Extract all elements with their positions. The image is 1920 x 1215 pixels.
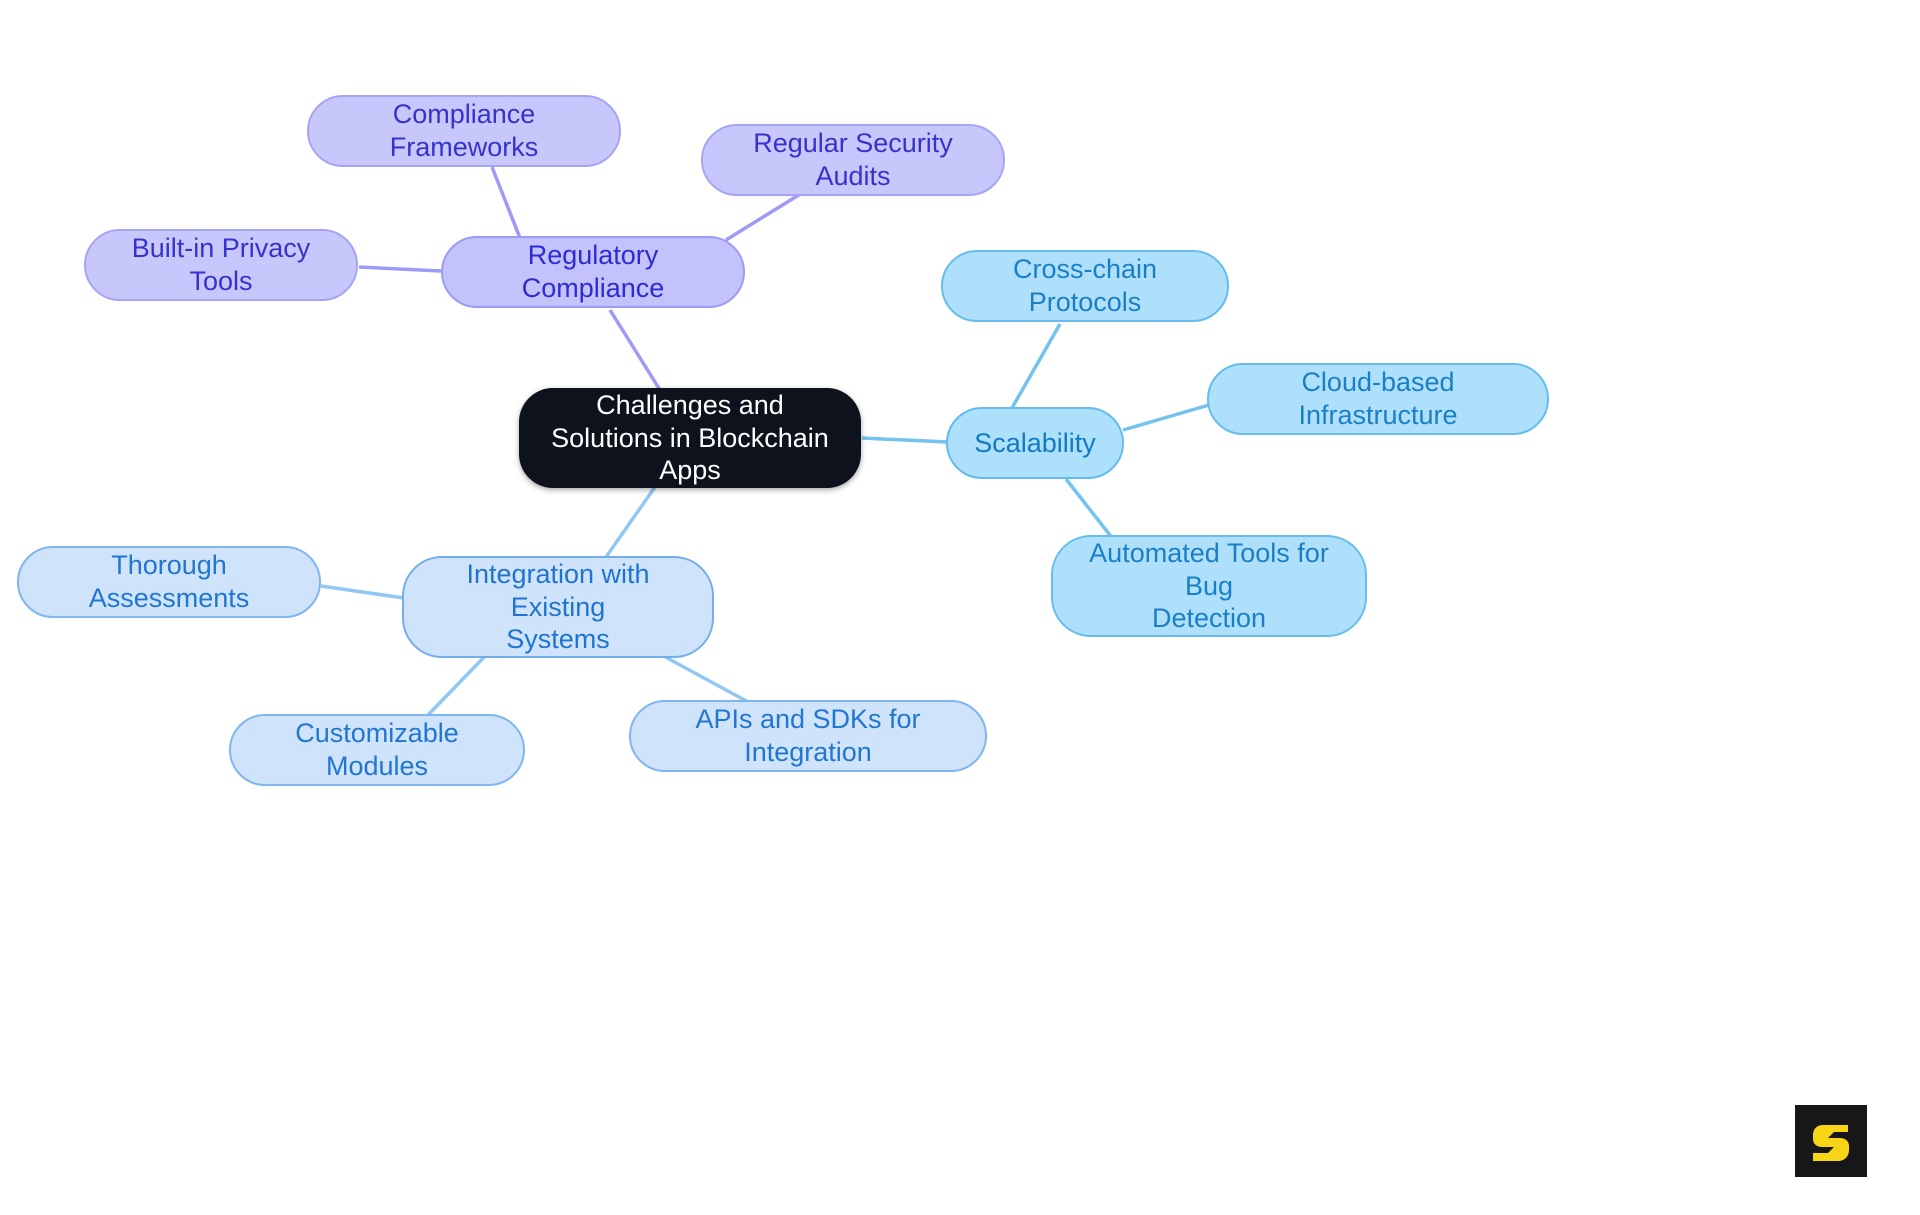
- node-label: Built-in Privacy Tools: [104, 232, 338, 298]
- node-label: Cross-chain Protocols: [961, 253, 1209, 319]
- node-scalability[interactable]: Scalability: [946, 407, 1124, 479]
- edge-regulatory-compliance-built-in-privacy-tools: [359, 267, 441, 271]
- brand-logo: [1795, 1105, 1867, 1177]
- edge-root-integration-with-existing-systems: [606, 487, 655, 557]
- edge-regulatory-compliance-compliance-frameworks: [492, 167, 520, 238]
- node-label: APIs and SDKs for Integration: [649, 703, 967, 769]
- node-label: Automated Tools for Bug Detection: [1071, 537, 1347, 636]
- node-thorough-assessments[interactable]: Thorough Assessments: [17, 546, 321, 618]
- node-label: Scalability: [974, 427, 1096, 460]
- node-label: Customizable Modules: [249, 717, 505, 783]
- node-apis-and-sdks-for-integration[interactable]: APIs and SDKs for Integration: [629, 700, 987, 772]
- node-label: Compliance Frameworks: [327, 98, 601, 164]
- brand-s-icon: [1807, 1117, 1855, 1165]
- edge-root-scalability: [862, 438, 947, 442]
- node-root-challenges-and-solutions[interactable]: Challenges and Solutions in Blockchain A…: [519, 388, 861, 488]
- edge-root-regulatory-compliance: [610, 310, 660, 390]
- node-integration-with-existing-systems[interactable]: Integration with Existing Systems: [402, 556, 714, 658]
- node-regular-security-audits[interactable]: Regular Security Audits: [701, 124, 1005, 196]
- node-label: Regular Security Audits: [721, 127, 985, 193]
- node-automated-tools-for-bug-detection[interactable]: Automated Tools for Bug Detection: [1051, 535, 1367, 637]
- node-label: Challenges and Solutions in Blockchain A…: [537, 389, 843, 488]
- node-label: Cloud-based Infrastructure: [1227, 366, 1529, 432]
- node-cloud-based-infrastructure[interactable]: Cloud-based Infrastructure: [1207, 363, 1549, 435]
- node-regulatory-compliance[interactable]: Regulatory Compliance: [441, 236, 745, 308]
- node-label: Integration with Existing Systems: [422, 558, 694, 657]
- node-label: Thorough Assessments: [37, 549, 301, 615]
- edge-scalability-cloud-based-infrastructure: [1123, 405, 1209, 430]
- node-built-in-privacy-tools[interactable]: Built-in Privacy Tools: [84, 229, 358, 301]
- edge-scalability-cross-chain-protocols: [1012, 324, 1060, 408]
- edge-integration-customizable-modules: [428, 650, 491, 715]
- edge-integration-thorough-assessments: [321, 586, 404, 598]
- edge-regulatory-compliance-regular-security-audits: [726, 193, 802, 240]
- node-compliance-frameworks[interactable]: Compliance Frameworks: [307, 95, 621, 167]
- node-label: Regulatory Compliance: [461, 239, 725, 305]
- mindmap-canvas: Compliance Frameworks Regular Security A…: [0, 0, 1920, 1215]
- edge-integration-apis-and-sdks-for-integration: [658, 653, 750, 703]
- node-customizable-modules[interactable]: Customizable Modules: [229, 714, 525, 786]
- node-cross-chain-protocols[interactable]: Cross-chain Protocols: [941, 250, 1229, 322]
